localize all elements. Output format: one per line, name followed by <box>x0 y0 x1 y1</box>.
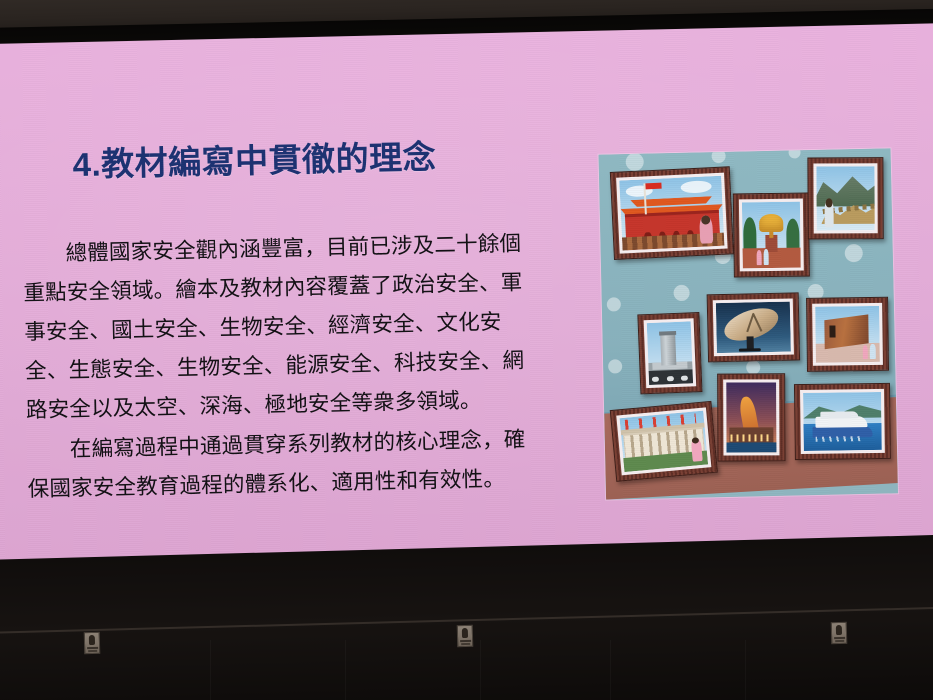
body-paragraph-2: 在編寫過程中通過貫穿系列教材的核心理念，確保國家安全教育過程的體系化、適用性和有… <box>26 420 540 509</box>
body-paragraph-1: 總體國家安全觀內涵豐富，目前已涉及二十餘個重點安全領域。繪本及教材內容覆蓋了政治… <box>22 224 538 430</box>
plaque-glyph-icon <box>89 635 95 645</box>
plaque-text-bar <box>834 637 845 639</box>
night-skyline-photo <box>717 373 785 461</box>
slide-body-text: 總體國家安全觀內涵豐富，目前已涉及二十餘個重點安全領域。繪本及教材內容覆蓋了政治… <box>22 224 540 509</box>
city-tower-photo <box>637 312 702 394</box>
great-wall-photo <box>807 157 883 239</box>
plaque-text-bar <box>461 643 470 645</box>
presentation-slide: 4.教材編寫中貫徹的理念 總體國家安全觀內涵豐富，目前已涉及二十餘個重點安全領域… <box>0 23 933 589</box>
wall-plaque-left <box>84 632 101 654</box>
slide-title: 4.教材編寫中貫徹的理念 <box>72 130 436 186</box>
tiananmen-gate-photo <box>610 166 734 260</box>
wall-plaque-right <box>831 622 848 644</box>
plaque-glyph-icon <box>462 628 468 638</box>
wall-panel-line <box>345 640 346 700</box>
illustrated-photo-wall <box>599 148 898 499</box>
golden-bauhinia-photo <box>733 192 810 277</box>
plaque-text-bar <box>460 640 471 642</box>
wall-panel-line <box>480 640 481 700</box>
wall-panel-line <box>210 640 211 700</box>
plaque-text-bar <box>835 640 844 642</box>
wall-panel-line <box>745 640 746 700</box>
wall-plaque-center <box>457 625 474 647</box>
radio-telescope-photo <box>707 292 800 362</box>
plaque-text-bar <box>88 650 97 652</box>
plaque-glyph-icon <box>836 625 842 635</box>
cruise-ship-photo <box>794 383 891 460</box>
lower-wall <box>0 534 933 700</box>
wall-panel-line <box>610 640 611 700</box>
plaque-text-bar <box>87 647 98 649</box>
great-hall-photo <box>610 401 718 482</box>
museum-building-photo <box>806 297 889 372</box>
photo-of-projected-slide: 4.教材編寫中貫徹的理念 總體國家安全觀內涵豐富，目前已涉及二十餘個重點安全領域… <box>0 0 933 700</box>
